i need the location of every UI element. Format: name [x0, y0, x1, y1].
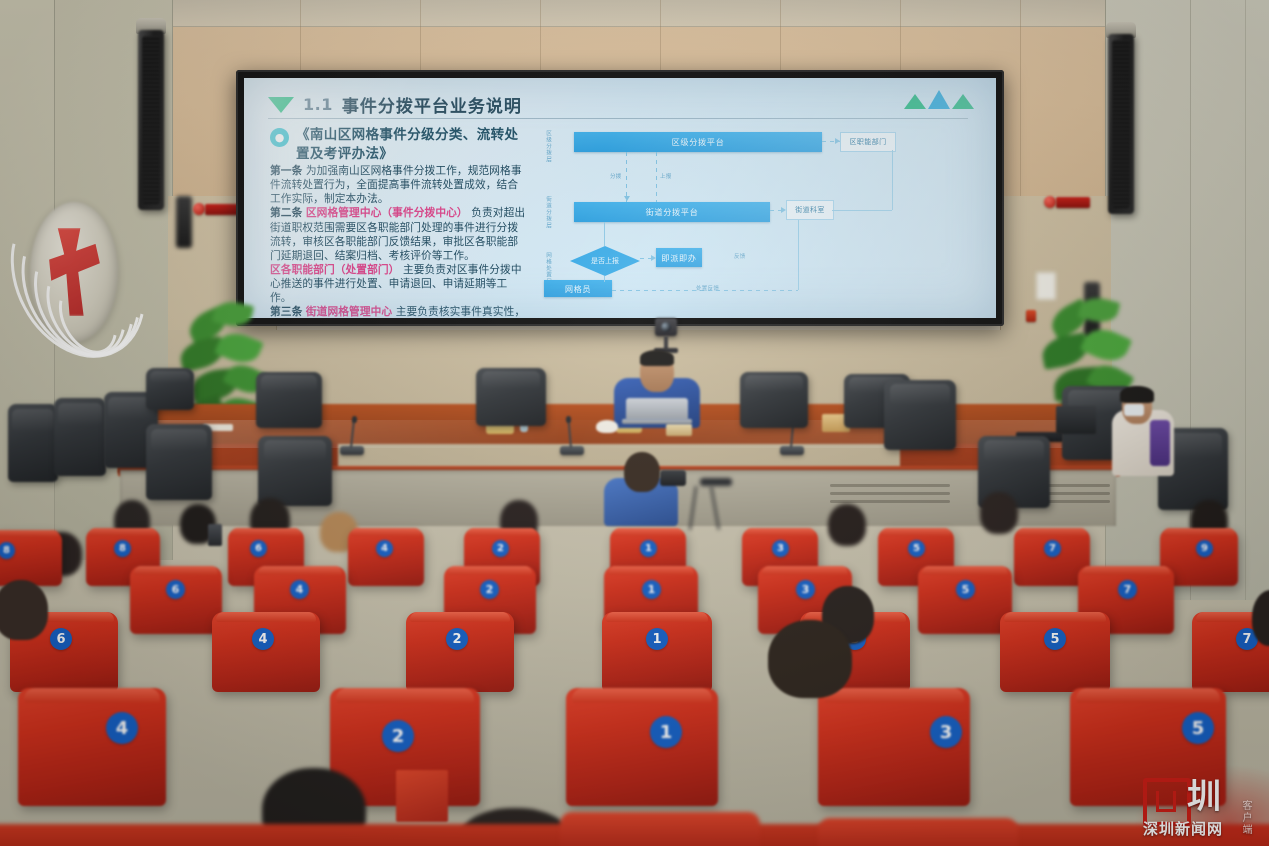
- mountain-icon-blue: [928, 90, 950, 109]
- seat-m3-r3: [918, 566, 1012, 634]
- seat-number: 1: [640, 540, 657, 557]
- seat-number: 4: [252, 628, 274, 650]
- seat-number: 6: [166, 580, 185, 599]
- seat-m2-r3: [1000, 612, 1110, 692]
- clause-highlight-4: 街道网格管理中心: [306, 305, 392, 318]
- side-staff-laptop: [1056, 406, 1096, 434]
- seat-number: 8: [114, 540, 131, 557]
- clause-label-4: 第三条: [270, 305, 302, 318]
- seat-number: 9: [1196, 540, 1213, 557]
- watermark-logo: 圳 深圳新闻网: [1143, 778, 1235, 840]
- watermark: 圳 深圳新闻网 客户端: [1143, 774, 1261, 840]
- flow-node-dispatch-now: 即派即办: [656, 248, 702, 267]
- clause-label-2: 第二条: [270, 206, 302, 219]
- foreground-head-3: [768, 620, 852, 698]
- slide-body-text: 第一条 为加强南山区网格事件分拨工作，规范网格事件流转处置行为，全面提高事件流转…: [270, 164, 526, 318]
- seat-number: 4: [290, 580, 309, 599]
- clause-highlight-3: 区各职能部门（处置部门）: [270, 263, 399, 276]
- clause-highlight-2: 区网格管理中心（事件分拨中心）: [306, 206, 468, 219]
- conference-room-photo: 1.1 事件分拨平台业务说明 ● 《南山区网格事件分级分类、流转处置及考评办法》…: [0, 0, 1269, 846]
- clause-label-1: 第一条: [270, 164, 302, 177]
- speaker-left: [138, 30, 164, 210]
- seat-back-l1: [348, 528, 424, 586]
- document-icon: ●: [270, 128, 289, 147]
- tripod-head: [700, 478, 732, 486]
- side-staff-hair: [1120, 386, 1154, 403]
- presenter-hair: [640, 350, 674, 366]
- swimlane-label-2: 街道分拨层: [544, 196, 552, 229]
- watermark-logo-char: 圳: [1187, 777, 1221, 817]
- seat-number: 7: [1044, 540, 1061, 557]
- video-camera: [660, 470, 686, 486]
- watermark-app-label: 客户端: [1238, 800, 1253, 840]
- fire-alarm-bell-right: [1044, 196, 1056, 208]
- side-staff-sleeve: [1150, 420, 1170, 466]
- seat-front-l2: [18, 688, 166, 806]
- audience-head-m6: [828, 504, 866, 546]
- audience-head-f1: [0, 580, 48, 640]
- seat-number: 6: [250, 540, 267, 557]
- wall-notice-right: [1036, 272, 1056, 300]
- mountain-decor: [904, 90, 974, 109]
- seat-number: 1: [650, 716, 682, 748]
- slide-subtitle: 《南山区网格事件分级分类、流转处置及考评办法》: [296, 126, 524, 164]
- seat-number: 2: [480, 580, 499, 599]
- seat-number: 2: [492, 540, 509, 557]
- party-emblem-display: [8, 196, 158, 401]
- seat-number: 3: [796, 580, 815, 599]
- camera-operator-head: [624, 452, 660, 492]
- mountain-icon-green-1: [904, 94, 926, 109]
- attendee-phone: [208, 524, 222, 546]
- exec-chair-l5: [258, 436, 332, 506]
- presenter-name-placard: [666, 424, 692, 436]
- seat-number: 2: [446, 628, 468, 650]
- flow-node-grid-worker: 网格员: [544, 280, 612, 297]
- seat-number: 5: [956, 580, 975, 599]
- slide-display: 1.1 事件分拨平台业务说明 ● 《南山区网格事件分级分类、流转处置及考评办法》…: [244, 78, 996, 318]
- exec-chair-l4: [146, 424, 212, 500]
- seat-number: 4: [106, 712, 138, 744]
- exec-chair-1: [256, 372, 322, 428]
- seat-number: 1: [642, 580, 661, 599]
- presenter-laptop-screen: [626, 398, 688, 420]
- slide-title-row: 1.1 事件分拨平台业务说明: [268, 92, 522, 117]
- presenter-cup: [596, 420, 618, 433]
- ceiling-strip: [0, 0, 1269, 27]
- slide-title: 事件分拨平台业务说明: [342, 92, 522, 117]
- flowchart: 区级分拨层 街道分拨层 网格处置层 区级分拨平台 街道分拨平台 是否上报 即派即…: [544, 124, 974, 304]
- fire-alarm-bell-left: [193, 203, 205, 215]
- seat-number: 5: [908, 540, 925, 557]
- side-staff-mask: [1124, 404, 1144, 416]
- red-booklet: [396, 770, 448, 822]
- seat-number: 2: [382, 720, 414, 752]
- seat-front-r1: [566, 688, 718, 806]
- flow-node-district-platform: 区级分拨平台: [574, 132, 822, 152]
- seat-m2-l1: [406, 612, 514, 692]
- speaker-side-left: [176, 196, 192, 248]
- speaker-right: [1108, 34, 1134, 214]
- exec-chair-2: [476, 368, 546, 426]
- projection-screen-frame: 1.1 事件分拨平台业务说明 ● 《南山区网格事件分级分类、流转处置及考评办法》…: [236, 70, 1004, 326]
- exec-chair-5: [884, 380, 956, 450]
- pull-station-right: [1026, 310, 1036, 322]
- fire-alarm-sign-right: [1056, 197, 1090, 208]
- seat-number: 5: [1044, 628, 1066, 650]
- watermark-brand: 深圳新闻网: [1143, 818, 1223, 839]
- seat-number: 6: [50, 628, 72, 650]
- video-conference-camera: [655, 318, 677, 336]
- seat-m3-l3: [130, 566, 222, 634]
- seat-number: 5: [1182, 712, 1214, 744]
- exec-chair-l2: [54, 398, 106, 476]
- seat-number: 3: [930, 716, 962, 748]
- front-seat-top-r2: [818, 818, 1018, 846]
- exec-chair-l1: [8, 404, 58, 482]
- seat-number: 7: [1118, 580, 1137, 599]
- audience-head-m7: [980, 492, 1018, 534]
- triangle-bullet-icon: [268, 97, 294, 113]
- exec-chair-l6: [146, 368, 194, 410]
- title-divider: [268, 118, 968, 119]
- slide-number: 1.1: [303, 95, 333, 114]
- flow-node-street-dept: 街道科室: [786, 200, 834, 220]
- flow-node-district-dept: 区职能部门: [840, 132, 896, 152]
- front-seat-top-r: [560, 812, 760, 846]
- seat-number: 3: [772, 540, 789, 557]
- swimlane-label-1: 区级分拨层: [544, 130, 552, 163]
- flow-node-report-decision: 是否上报: [570, 246, 640, 276]
- seat-number: 1: [646, 628, 668, 650]
- clause-text-1: 为加强南山区网格事件分拨工作，规范网格事件流转处置行为，全面提高事件流转处置成效…: [270, 164, 522, 205]
- seat-m2-r1: [602, 612, 712, 692]
- exec-chair-3: [740, 372, 808, 428]
- flow-node-street-platform: 街道分拨平台: [574, 202, 770, 222]
- mountain-icon-green-2: [952, 94, 974, 109]
- seat-number: 4: [376, 540, 393, 557]
- seat-m2-l2: [212, 612, 320, 692]
